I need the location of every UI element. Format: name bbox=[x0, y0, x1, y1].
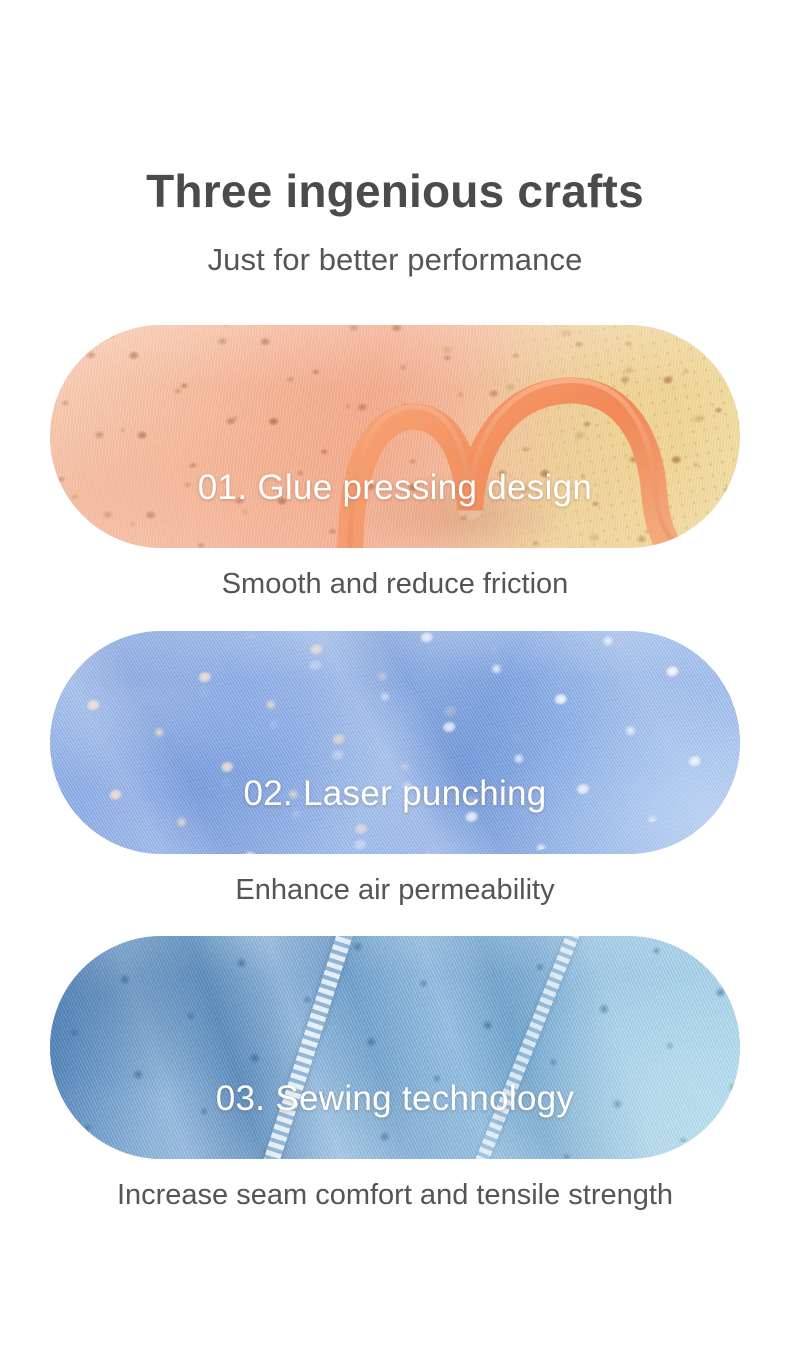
sewing-technology-photo bbox=[50, 936, 740, 1159]
bottom-blur-overlay bbox=[50, 936, 740, 1159]
craft-card-3-caption: Increase seam comfort and tensile streng… bbox=[0, 1180, 790, 1212]
craft-card-3: 03. Sewing technology Increase seam comf… bbox=[0, 936, 790, 1212]
laser-punching-photo bbox=[50, 631, 740, 854]
craft-card-1: 01. Glue pressing design Smooth and redu… bbox=[0, 325, 790, 601]
craft-card-1-image[interactable]: 01. Glue pressing design bbox=[50, 325, 740, 548]
craft-card-2-image[interactable]: 02. Laser punching bbox=[50, 631, 740, 854]
glue-pressing-photo bbox=[50, 325, 740, 548]
page-subtitle: Just for better performance bbox=[0, 243, 790, 277]
craft-card-3-label: 03. Sewing technology bbox=[50, 1079, 740, 1119]
craft-card-2-caption: Enhance air permeability bbox=[0, 875, 790, 907]
bottom-blur-overlay bbox=[50, 631, 740, 854]
page-header: Three ingenious crafts Just for better p… bbox=[0, 0, 790, 277]
craft-card-list: 01. Glue pressing design Smooth and redu… bbox=[0, 325, 790, 1213]
craft-card-2: 02. Laser punching Enhance air permeabil… bbox=[0, 631, 790, 907]
bottom-blur-overlay bbox=[50, 325, 740, 548]
craft-card-2-label: 02. Laser punching bbox=[50, 774, 740, 814]
page-title: Three ingenious crafts bbox=[0, 166, 790, 217]
infographic-page: Three ingenious crafts Just for better p… bbox=[0, 0, 790, 1356]
craft-card-3-image[interactable]: 03. Sewing technology bbox=[50, 936, 740, 1159]
craft-card-1-label: 01. Glue pressing design bbox=[50, 468, 740, 508]
craft-card-1-caption: Smooth and reduce friction bbox=[0, 569, 790, 601]
